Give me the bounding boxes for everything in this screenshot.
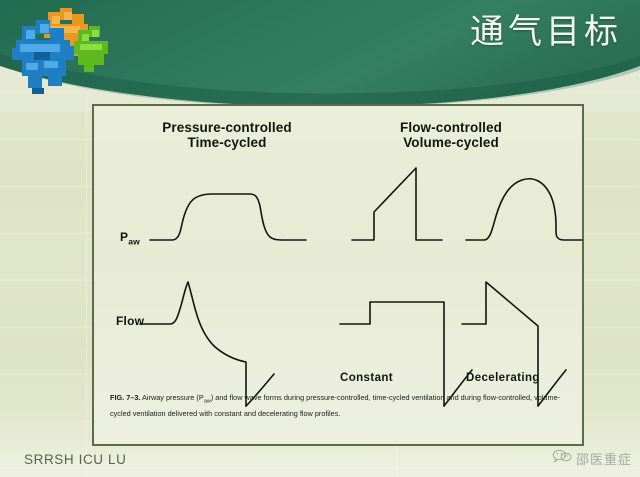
- figure-caption: FIG. 7–3. Airway pressure (Paw) and flow…: [110, 392, 566, 419]
- caption-paw-subscript: aw: [204, 398, 211, 404]
- watermark: 邵医重症: [552, 449, 632, 468]
- figure-panel: Pressure-controlled Time-cycled Flow-con…: [92, 104, 584, 446]
- caption-line1-b: ) and flow wave forms during pressure-co…: [211, 393, 481, 402]
- paw-wave-pressure-controlled: [150, 194, 306, 240]
- caption-line1-a: Airway pressure (P: [140, 393, 203, 402]
- slide-canvas: 通气目标: [0, 0, 640, 477]
- flow-wave-pressure-controlled-inspiratory: [140, 282, 246, 406]
- paw-wave-decelerating: [466, 179, 582, 240]
- wechat-icon: [552, 449, 572, 468]
- paw-wave-constant: [352, 168, 442, 240]
- decorative-cluster-group: [4, 2, 124, 102]
- caption-figure-number: FIG. 7–3.: [110, 393, 140, 402]
- flow-wave-decelerating-inspiratory: [462, 282, 538, 406]
- watermark-text: 邵医重症: [576, 449, 632, 468]
- flow-wave-constant-inspiratory: [340, 302, 444, 406]
- footer-label: SRRSH ICU LU: [24, 452, 126, 467]
- page-title: 通气目标: [470, 10, 622, 54]
- cluster-green-icon: [74, 26, 108, 72]
